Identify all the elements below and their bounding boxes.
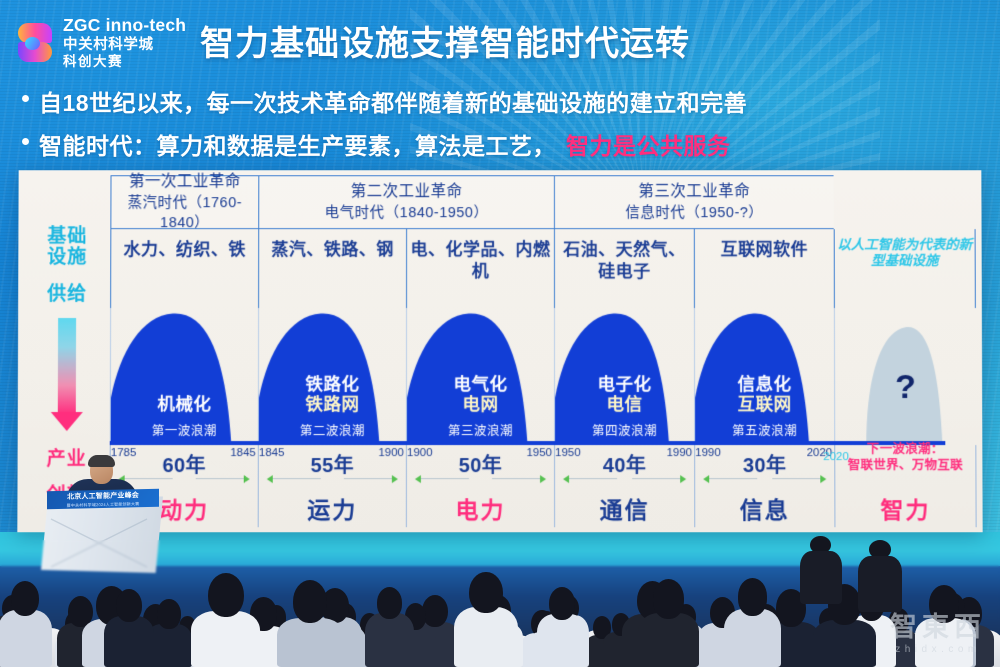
audience-member — [191, 571, 260, 667]
zgc-logo: ZGC inno-tech 中关村科学城 科创大赛 — [16, 12, 192, 74]
timeline-line-right — [196, 478, 244, 479]
infrastructure-text: 以人工智能为代表的新型基础设施 — [835, 237, 975, 270]
next-wave-vision: 智联世界、万物互联 — [837, 457, 973, 473]
revolution-name: 第二次工业革命 — [351, 182, 463, 203]
revolution-era: 信息时代（1950-?） — [625, 203, 763, 223]
audience-body — [191, 611, 260, 667]
audience-head — [377, 587, 403, 619]
infrastructure-cell-1: 水力、纺织、铁 — [110, 229, 258, 308]
podium-sign-line2: 暨中关村科学城2024人工智能创新大赛 — [67, 501, 140, 509]
year-marker-end: 1845 — [230, 447, 256, 459]
bullet-item-1: 自18世纪以来，每一次技术革命都伴随着新的基础设施的建立和完善 — [22, 84, 922, 118]
timeline-line-left — [421, 478, 469, 479]
watermark-chinese: 智東西 — [890, 614, 986, 641]
wave-order: 第四波浪潮 — [555, 420, 694, 439]
axis-top-line3: 供给 — [47, 279, 87, 306]
timeline-arrow-right — [392, 475, 398, 483]
year-marker-start: 1900 — [407, 447, 433, 459]
logo-english-name: ZGC inno-tech — [63, 17, 186, 35]
audience-head — [653, 579, 685, 619]
year-marker-start: 2020 — [823, 451, 849, 463]
infrastructure-cell-6: 以人工智能为代表的新型基础设施 — [834, 229, 976, 308]
audience-member — [638, 573, 699, 667]
bullet-text-2: 智能时代：算力和数据是生产要素，算法是工艺， — [39, 127, 556, 161]
revolution-era: 蒸汽时代（1760-1840） — [111, 193, 258, 233]
audience-head — [738, 578, 768, 615]
role-row: 动力运力电力通信信息智力 — [109, 489, 976, 527]
role-label: 智力 — [880, 491, 930, 525]
audience-body — [365, 613, 414, 667]
audience-body — [537, 614, 587, 667]
timeline-arrow-left — [703, 475, 709, 483]
year-marker-end: 1900 — [378, 447, 404, 459]
audience-member — [0, 569, 52, 667]
audience-body — [454, 607, 518, 667]
axis-top-line1: 基础 — [47, 226, 87, 247]
wave-labels: 电子化电信第四波浪潮 — [555, 374, 694, 439]
audience — [0, 540, 1000, 667]
wave-subtitle: 电网 — [407, 394, 554, 415]
year-marker-start: 1845 — [259, 447, 285, 459]
role-cell-4: 通信 — [554, 489, 694, 527]
role-label: 信息 — [740, 491, 790, 525]
watermark-domain: zhidx.com — [895, 644, 981, 655]
year-marker-end: 1950 — [526, 447, 552, 459]
wave-subtitle: 铁路网 — [259, 394, 406, 415]
infrastructure-text: 蒸汽、铁路、钢 — [271, 239, 393, 261]
audience-member — [724, 569, 782, 667]
wave-title: 电气化 — [407, 374, 554, 395]
timeline-line-right — [344, 478, 392, 479]
audience-member — [104, 578, 155, 667]
podium-sign-line1: 北京人工智能产业峰会 — [67, 490, 139, 502]
timeline-cell-2: 55年18451900 — [258, 445, 406, 489]
wave-title: 铁路化 — [259, 374, 406, 395]
axis-top-line2: 设施 — [47, 247, 87, 268]
logo-ribbon-icon — [16, 21, 56, 65]
revolution-header-4 — [834, 175, 976, 229]
wave-cell-1: 机械化第一波浪潮 — [110, 308, 258, 445]
timeline-line-right — [632, 478, 680, 479]
timeline-cell-4: 40年19501990 — [554, 445, 694, 489]
wave-cell-6: ? — [834, 308, 976, 445]
audience-head — [116, 589, 142, 622]
audience-member — [277, 580, 344, 667]
wave-row: 机械化第一波浪潮铁路化铁路网第二波浪潮电气化电网第三波浪潮电子化电信第四波浪潮信… — [110, 308, 977, 445]
infrastructure-cell-3: 电、化学品、内燃机 — [406, 229, 554, 308]
timeline-cell-6: 下一波浪潮：智联世界、万物互联2020 — [834, 445, 976, 489]
timeline-cell-5: 30年19902020 — [694, 445, 834, 489]
timeline-line-right — [772, 478, 820, 479]
bullet-dot-icon — [22, 138, 29, 145]
timeline-arrow-right — [680, 475, 686, 483]
chart-grid: 第一次工业革命蒸汽时代（1760-1840）第二次工业革命电气时代（1840-1… — [109, 175, 976, 527]
year-marker-start: 1950 — [555, 447, 581, 459]
wave-order: 第三波浪潮 — [407, 420, 554, 439]
timeline-line-right — [492, 478, 540, 479]
audience-head — [293, 580, 328, 624]
bullet-item-2: 智能时代：算力和数据是生产要素，算法是工艺，智力是公共服务 — [22, 127, 922, 161]
revolution-name: 第三次工业革命 — [638, 182, 750, 203]
speaker-hair — [88, 455, 115, 467]
timeline-arrow-left — [563, 475, 569, 483]
audience-head — [11, 581, 39, 616]
revolution-era: 电气时代（1840-1950） — [325, 203, 489, 223]
infrastructure-text: 水力、纺织、铁 — [124, 239, 246, 261]
timeline-arrow-right — [244, 475, 250, 483]
wave-cell-5: 信息化互联网第五波浪潮 — [694, 308, 834, 445]
logo-event-name: 科创大赛 — [63, 55, 186, 69]
infrastructure-cell-2: 蒸汽、铁路、钢 — [258, 229, 406, 308]
infrastructure-text: 电、化学品、内燃机 — [407, 239, 554, 282]
timeline-arrow-left — [267, 475, 273, 483]
audience-member — [365, 574, 414, 667]
wave-title: 机械化 — [111, 394, 258, 415]
wave-labels: 信息化互联网第五波浪潮 — [695, 374, 834, 439]
audience-member — [537, 575, 587, 667]
wave-labels: 机械化第一波浪潮 — [111, 394, 258, 439]
staff-member — [800, 536, 842, 604]
gradient-arrow-icon — [58, 318, 76, 414]
wave-labels: 电气化电网第三波浪潮 — [407, 374, 554, 439]
timeline-cell-3: 50年19001950 — [406, 445, 554, 489]
audience-body — [0, 610, 52, 667]
wave-subtitle: 电信 — [555, 394, 694, 415]
question-mark-label: ? — [835, 368, 976, 407]
timeline-arrow-right — [820, 475, 826, 483]
logo-chinese-name: 中关村科学城 — [63, 38, 186, 53]
revolution-header-2: 第二次工业革命电气时代（1840-1950） — [258, 175, 554, 229]
timeline-row: 60年1785184555年1845190050年1900195040年1950… — [110, 445, 977, 489]
audience-head — [549, 587, 575, 620]
podium-sign: 北京人工智能产业峰会 暨中关村科学城2024人工智能创新大赛 — [47, 489, 159, 510]
timeline-arrow-left — [415, 475, 421, 483]
next-wave-note: 下一波浪潮：智联世界、万物互联 — [837, 441, 973, 474]
infrastructure-cell-5: 互联网软件 — [694, 229, 834, 308]
bullet-list: 自18世纪以来，每一次技术革命都伴随着新的基础设施的建立和完善 智能时代：算力和… — [22, 84, 922, 170]
wave-cell-2: 铁路化铁路网第二波浪潮 — [258, 308, 406, 445]
timeline-arrow-right — [540, 475, 546, 483]
wave-title: 信息化 — [695, 374, 834, 395]
audience-body — [813, 620, 876, 667]
wave-order: 第五波浪潮 — [695, 420, 834, 439]
wave-cell-3: 电气化电网第三波浪潮 — [406, 308, 554, 445]
infrastructure-cell-4: 石油、天然气、硅电子 — [554, 229, 694, 308]
watermark: 智東西 zhidx.com — [890, 614, 986, 655]
audience-body — [638, 613, 699, 667]
audience-head — [469, 572, 502, 613]
revolution-name: 第一次工业革命 — [129, 172, 241, 193]
audience-body — [104, 616, 155, 667]
wave-title: 电子化 — [555, 374, 694, 395]
audience-body — [277, 618, 344, 667]
role-label: 通信 — [600, 491, 650, 525]
role-cell-2: 运力 — [258, 489, 406, 527]
year-marker-end: 1990 — [667, 447, 693, 459]
audience-body — [724, 609, 782, 667]
role-label: 电力 — [455, 491, 505, 525]
role-cell-6: 智力 — [834, 489, 976, 527]
infrastructure-text: 石油、天然气、硅电子 — [555, 239, 694, 282]
infrastructure-text: 互联网软件 — [721, 239, 808, 261]
timeline-line-left — [569, 478, 617, 479]
wave-order: 第二波浪潮 — [259, 420, 406, 439]
audience-head — [208, 573, 244, 618]
bullet-text-1: 自18世纪以来，每一次技术革命都伴随着新的基础设施的建立和完善 — [39, 84, 747, 118]
wave-order: 第一波浪潮 — [111, 420, 258, 439]
revolution-header-row: 第一次工业革命蒸汽时代（1760-1840）第二次工业革命电气时代（1840-1… — [110, 175, 975, 229]
slide-header: ZGC inno-tech 中关村科学城 科创大赛 智力基础设施支撑智能时代运转 — [0, 0, 1000, 78]
audience-head — [157, 599, 181, 628]
slide-title: 智力基础设施支撑智能时代运转 — [200, 16, 760, 64]
bullet-highlight-2: 智力是公共服务 — [566, 127, 731, 161]
timeline-line-left — [709, 478, 757, 479]
revolution-header-1: 第一次工业革命蒸汽时代（1760-1840） — [110, 175, 258, 229]
role-cell-3: 电力 — [406, 489, 554, 527]
infrastructure-row: 水力、纺织、铁蒸汽、铁路、钢电、化学品、内燃机石油、天然气、硅电子互联网软件以人… — [110, 229, 976, 308]
next-wave-order: 下一波浪潮： — [837, 441, 973, 457]
wave-subtitle: 互联网 — [695, 394, 834, 415]
staff-member — [858, 540, 902, 612]
year-marker-start: 1990 — [695, 447, 721, 459]
wave-labels: 铁路化铁路网第二波浪潮 — [259, 374, 406, 439]
revolution-header-3: 第三次工业革命信息时代（1950-?） — [554, 175, 834, 229]
timeline-line-left — [273, 478, 321, 479]
audience-member — [454, 565, 518, 667]
wave-cell-4: 电子化电信第四波浪潮 — [554, 308, 694, 445]
bullet-dot-icon — [22, 95, 29, 102]
role-label: 运力 — [307, 491, 357, 525]
role-cell-5: 信息 — [694, 489, 834, 527]
